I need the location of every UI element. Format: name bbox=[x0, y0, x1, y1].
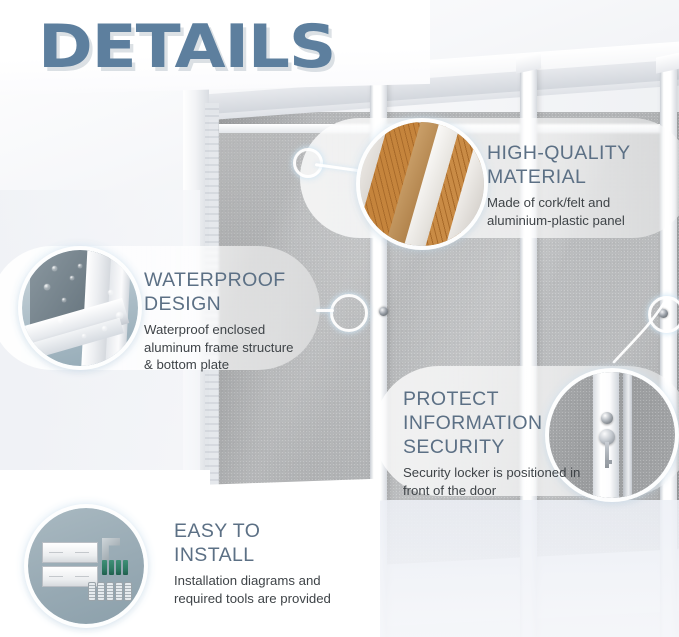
screw-icon bbox=[109, 560, 114, 575]
feature-protect-information-security: PROTECT INFORMATION SECURITY Security lo… bbox=[403, 387, 603, 499]
feature-waterproof-design: WATERPROOF DESIGN Waterproof enclosed al… bbox=[144, 268, 344, 374]
screw-icon bbox=[102, 560, 107, 575]
feature-body: Made of cork/felt and aluminium-plastic … bbox=[487, 194, 677, 229]
feature-body: Security locker is positioned in front o… bbox=[403, 464, 603, 499]
door-frame-post-edge-icon bbox=[623, 372, 632, 498]
water-droplet-icon bbox=[116, 312, 123, 319]
screw-icon bbox=[116, 560, 121, 575]
wall-anchor-icon bbox=[115, 582, 123, 601]
feature-high-quality-material: HIGH-QUALITY MATERIAL Made of cork/felt … bbox=[487, 141, 677, 229]
water-droplet-icon bbox=[102, 326, 107, 331]
feature-heading: PROTECT INFORMATION SECURITY bbox=[403, 387, 603, 459]
wall-anchor-icon bbox=[88, 582, 96, 601]
water-droplet-icon bbox=[44, 284, 50, 290]
key-shaft-icon bbox=[605, 442, 609, 468]
callout-image-high-quality-material bbox=[360, 122, 484, 246]
callout-image-easy-to-install bbox=[28, 508, 144, 624]
wall-anchor-icon bbox=[97, 582, 105, 601]
feature-heading: WATERPROOF DESIGN bbox=[144, 268, 344, 316]
water-droplet-icon bbox=[82, 334, 86, 338]
water-droplet-icon bbox=[70, 276, 74, 280]
wall-anchor-icon bbox=[124, 582, 132, 601]
water-droplet-icon bbox=[62, 298, 66, 302]
installation-diagram-icon bbox=[42, 542, 98, 563]
key-teeth-icon bbox=[605, 460, 612, 464]
feature-heading: EASY TO INSTALL bbox=[174, 519, 394, 567]
water-droplet-icon bbox=[58, 318, 63, 323]
screw-icon bbox=[123, 560, 128, 575]
door-lock-1 bbox=[379, 307, 388, 316]
feature-body: Installation diagrams and required tools… bbox=[174, 572, 394, 607]
callout-image-waterproof-design bbox=[22, 250, 138, 366]
page-title: DETAILS bbox=[38, 12, 335, 82]
feature-easy-to-install: EASY TO INSTALL Installation diagrams an… bbox=[174, 519, 394, 607]
water-droplet-icon bbox=[78, 264, 82, 268]
feature-heading: HIGH-QUALITY MATERIAL bbox=[487, 141, 677, 189]
feature-body: Waterproof enclosed aluminum frame struc… bbox=[144, 321, 344, 374]
water-droplet-icon bbox=[52, 266, 57, 271]
details-infographic: DETAILS HIGH-QUALITY MATERIAL Made of co… bbox=[0, 0, 679, 637]
water-droplet-icon bbox=[108, 290, 113, 295]
wall-anchor-icon bbox=[106, 582, 114, 601]
